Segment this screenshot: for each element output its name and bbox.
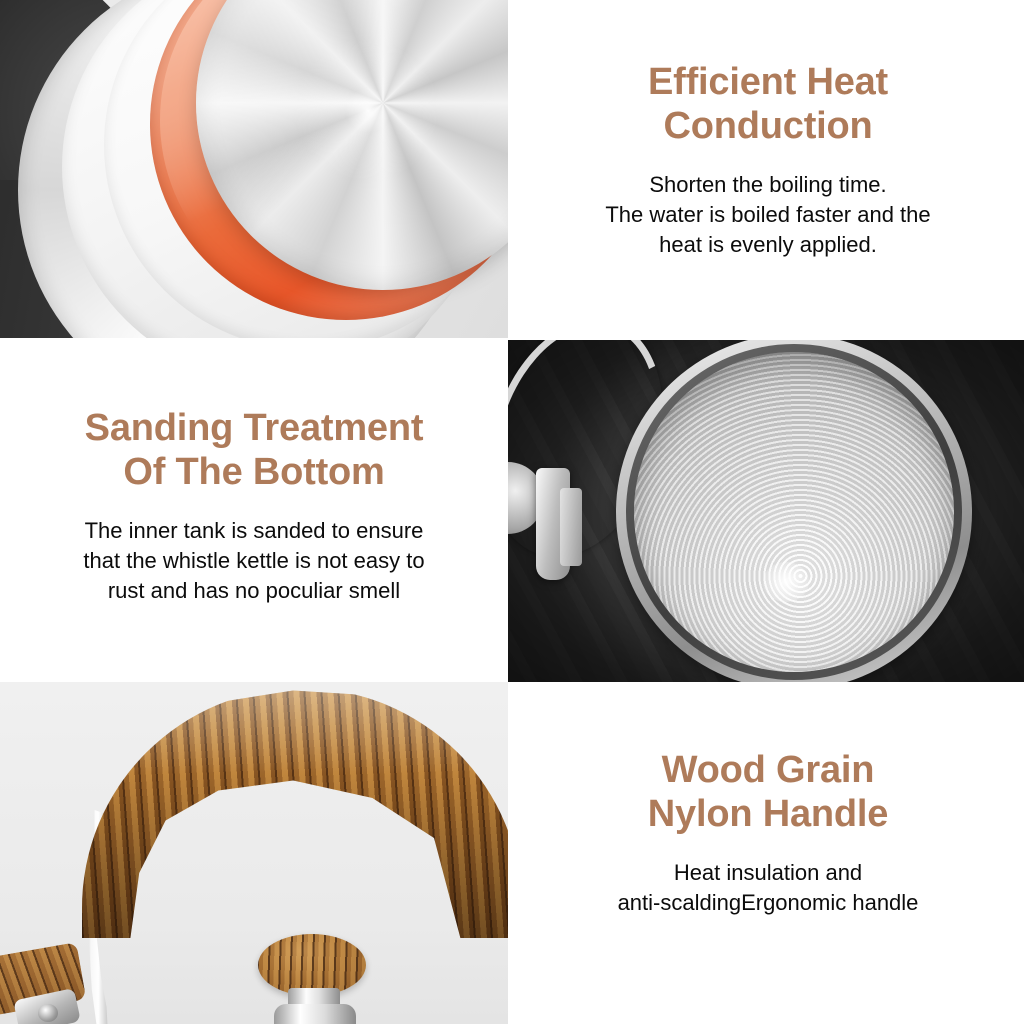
feature-body: The inner tank is sanded to ensure that …	[83, 516, 424, 606]
photo-kettle-base	[0, 0, 508, 338]
feature-heading: Efficient Heat Conduction	[648, 60, 888, 148]
handle-rivet	[38, 1004, 58, 1022]
feature-text-efficient-heat-conduction: Efficient Heat Conduction Shorten the bo…	[512, 60, 1024, 260]
feature-body: Shorten the boiling time. The water is b…	[605, 170, 930, 260]
feature-heading: Sanding Treatment Of The Bottom	[85, 406, 424, 494]
feature-heading: Wood Grain Nylon Handle	[648, 748, 888, 836]
photo-wood-grain-handle	[0, 682, 508, 1024]
feature-text-sanding-treatment: Sanding Treatment Of The Bottom The inne…	[0, 406, 508, 606]
lid-knob-base	[274, 1004, 356, 1024]
infographic-canvas: Efficient Heat Conduction Shorten the bo…	[0, 0, 1024, 1024]
feature-body: Heat insulation and anti-scaldingErgonom…	[618, 858, 919, 918]
feature-text-wood-grain-nylon-handle: Wood Grain Nylon Handle Heat insulation …	[512, 748, 1024, 918]
sanded-inner-tank	[634, 352, 954, 672]
photo-kettle-interior	[508, 340, 1024, 682]
wood-grain-lid-knob	[258, 934, 366, 996]
handle-bracket-tab	[560, 488, 582, 566]
inner-tank-highlight	[763, 562, 809, 602]
